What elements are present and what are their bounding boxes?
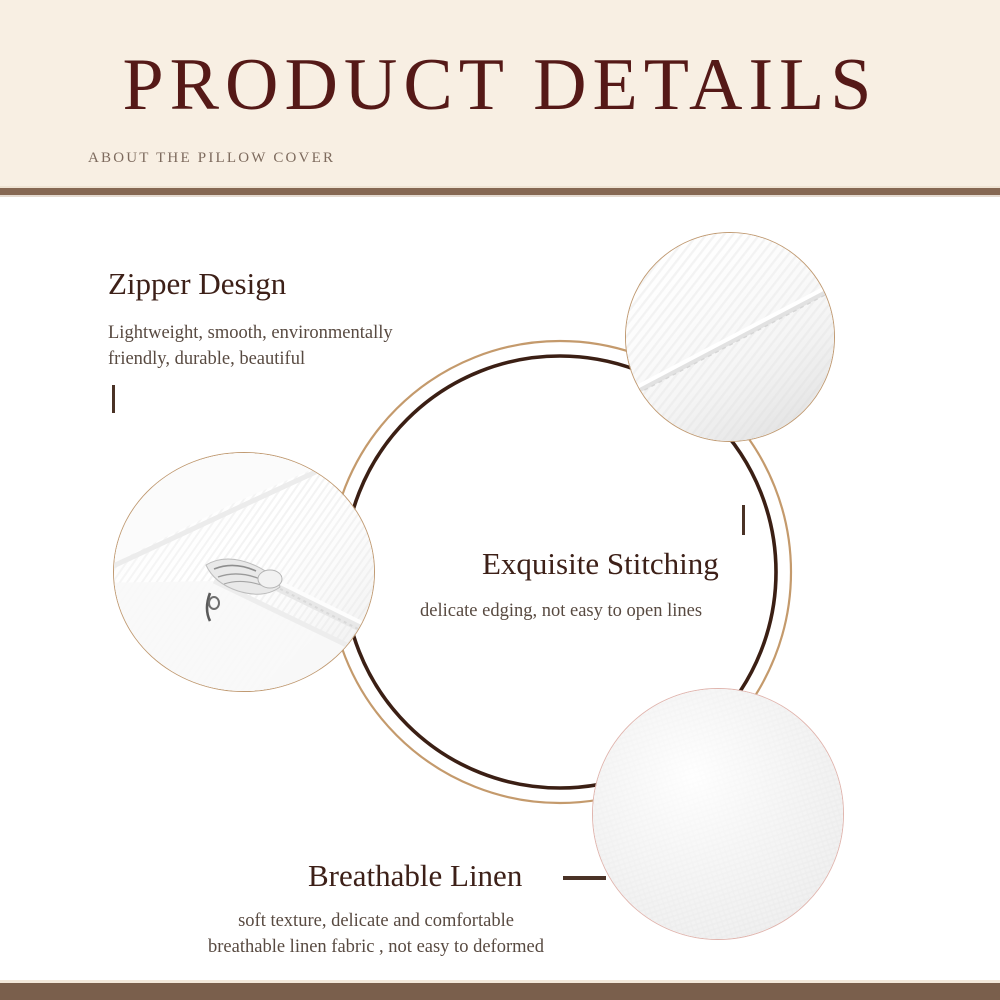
feature-title-zipper: Zipper Design <box>108 268 286 299</box>
stitching-closeup-photo <box>625 232 835 442</box>
feature-title-stitching: Exquisite Stitching <box>482 548 719 579</box>
feature-desc-linen-line1: soft texture, delicate and comfortable <box>188 908 564 934</box>
page-subtitle: ABOUT THE PILLOW COVER <box>88 150 335 167</box>
feature-title-linen: Breathable Linen <box>308 860 522 891</box>
feature-desc-linen-line2: breathable linen fabric , not easy to de… <box>188 934 564 960</box>
header-divider-shadow <box>0 195 1000 197</box>
accent-tick-zipper <box>112 385 115 413</box>
connector-dash-linen <box>563 876 606 880</box>
feature-desc-zipper-line2: friendly, durable, beautiful <box>108 346 305 372</box>
feature-desc-stitching-line1: delicate edging, not easy to open lines <box>420 598 702 624</box>
zipper-closeup-photo <box>113 452 375 692</box>
footer-bar <box>0 983 1000 1000</box>
product-details-infographic: PRODUCT DETAILS ABOUT THE PILLOW COVER <box>0 0 1000 1000</box>
header-divider-bar <box>0 188 1000 195</box>
page-title: PRODUCT DETAILS <box>0 48 1000 122</box>
feature-desc-zipper-line1: Lightweight, smooth, environmentally <box>108 320 393 346</box>
accent-tick-stitching <box>742 505 745 535</box>
linen-texture-photo <box>592 688 844 940</box>
